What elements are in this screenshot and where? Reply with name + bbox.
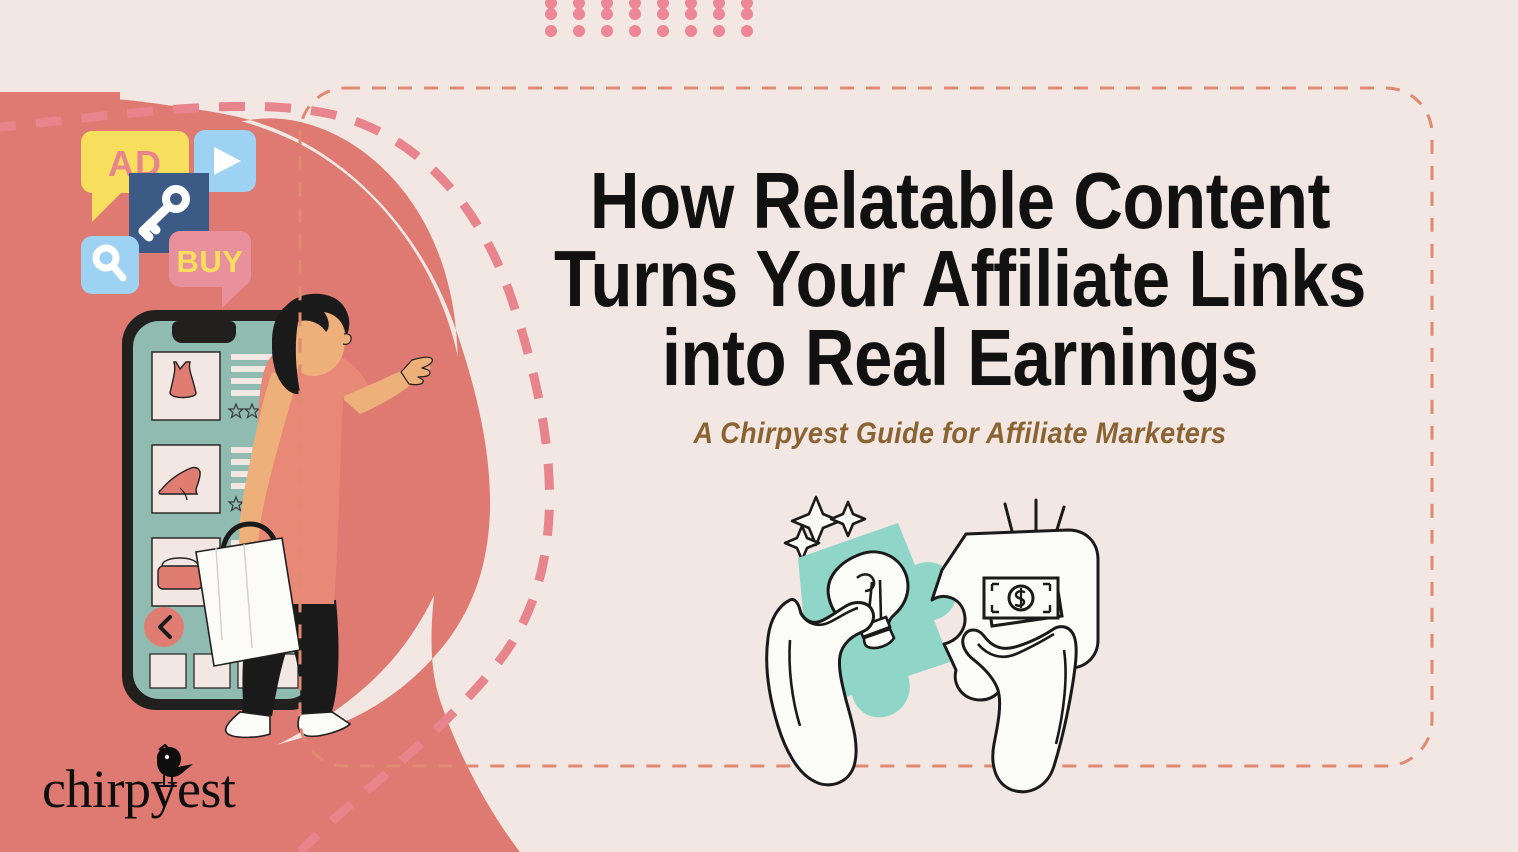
title-card-canvas: AD BUY bbox=[0, 0, 1518, 852]
brand-logo[interactable]: chirpyest bbox=[42, 748, 272, 818]
right-hand bbox=[963, 627, 1076, 792]
puzzle-hands-illustration bbox=[0, 0, 1518, 852]
dollar-banknote-icon bbox=[984, 578, 1062, 626]
logo-wordmark: chirpyest bbox=[42, 762, 235, 816]
